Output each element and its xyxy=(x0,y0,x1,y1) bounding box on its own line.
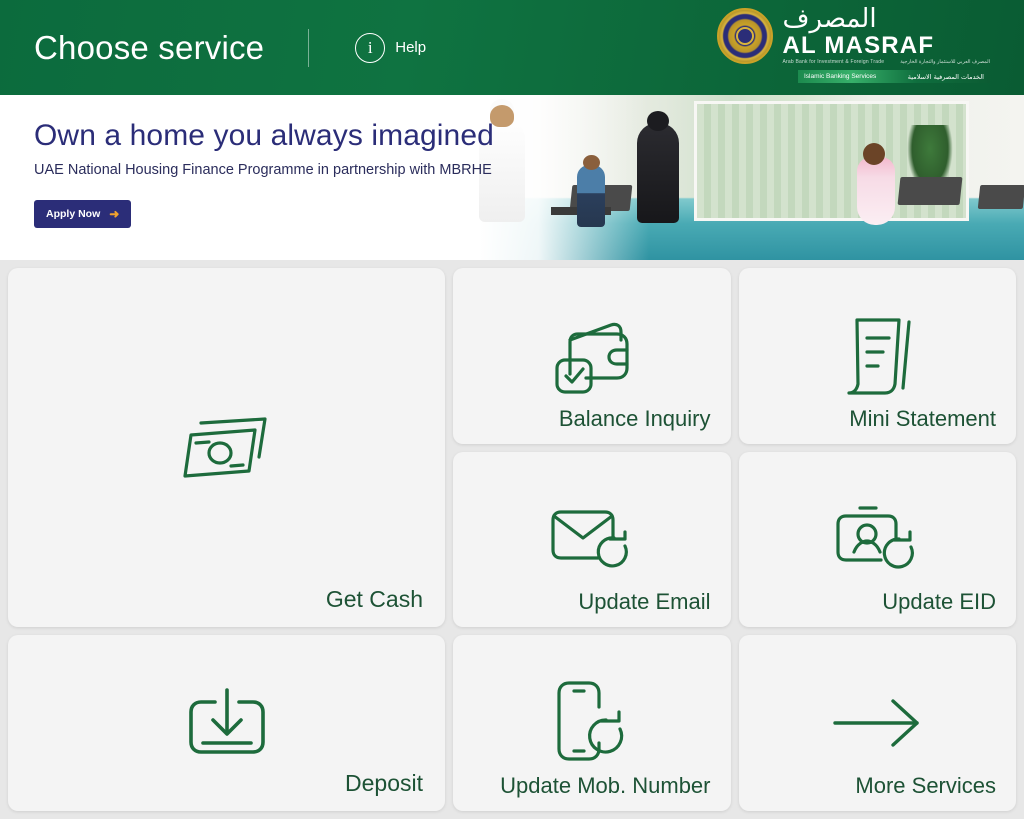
brand-subtitle: Arab Bank for Investment & Foreign Trade… xyxy=(783,59,990,65)
service-tile-update-mobile[interactable]: Update Mob. Number xyxy=(453,635,731,811)
app-header: Choose service i Help المصرف AL MASRAF A… xyxy=(0,0,1024,95)
service-tile-more-services[interactable]: More Services xyxy=(739,635,1017,811)
info-icon[interactable]: i xyxy=(355,33,385,63)
service-label-update-mobile: Update Mob. Number xyxy=(500,773,710,799)
service-label-balance-inquiry: Balance Inquiry xyxy=(559,406,711,432)
islamic-banking-label-ar: الخدمات المصرفية الاسلامية xyxy=(908,73,984,81)
brand-subtitle-en: Arab Bank for Investment & Foreign Trade xyxy=(783,59,885,65)
islamic-banking-band: Islamic Banking Services الخدمات المصرفي… xyxy=(798,70,990,83)
service-tile-mini-statement[interactable]: Mini Statement xyxy=(739,268,1017,444)
apply-now-label: Apply Now xyxy=(46,208,100,220)
service-tile-balance-inquiry[interactable]: Balance Inquiry xyxy=(453,268,731,444)
banner-content: Own a home you always imagined UAE Natio… xyxy=(0,95,1024,228)
brand-logo: المصرف AL MASRAF Arab Bank for Investmen… xyxy=(717,6,990,83)
service-label-deposit: Deposit xyxy=(345,770,423,797)
arrow-right-icon: ➜ xyxy=(109,208,119,220)
logo-text: المصرف AL MASRAF Arab Bank for Investmen… xyxy=(783,6,990,65)
brand-name-arabic: المصرف xyxy=(783,6,877,33)
promo-banner: Own a home you always imagined UAE Natio… xyxy=(0,95,1024,260)
envelope-refresh-icon xyxy=(548,502,636,576)
banner-subtitle: UAE National Housing Finance Programme i… xyxy=(34,162,1024,178)
id-card-refresh-icon xyxy=(833,500,921,578)
banknotes-icon xyxy=(179,411,275,485)
bank-emblem-icon xyxy=(717,8,773,64)
service-tile-deposit[interactable]: Deposit xyxy=(8,635,445,811)
service-label-mini-statement: Mini Statement xyxy=(849,406,996,432)
deposit-download-icon xyxy=(181,684,273,762)
header-divider xyxy=(308,29,309,67)
apply-now-button[interactable]: Apply Now ➜ xyxy=(34,200,131,228)
islamic-banking-label-en: Islamic Banking Services xyxy=(804,73,876,80)
service-label-update-eid: Update EID xyxy=(882,589,996,615)
page-title: Choose service xyxy=(34,29,264,67)
help-label: Help xyxy=(395,39,426,56)
service-label-update-email: Update Email xyxy=(578,589,710,615)
wallet-check-icon xyxy=(548,316,636,396)
brand-name-english: AL MASRAF xyxy=(783,33,935,58)
phone-refresh-icon xyxy=(553,677,631,769)
banner-title: Own a home you always imagined xyxy=(34,119,1024,152)
service-tile-update-email[interactable]: Update Email xyxy=(453,452,731,628)
receipt-icon xyxy=(837,314,917,398)
arrow-right-long-icon xyxy=(831,696,923,750)
service-label-more-services: More Services xyxy=(855,773,996,799)
help-button[interactable]: i Help xyxy=(355,33,426,63)
service-tile-update-eid[interactable]: Update EID xyxy=(739,452,1017,628)
logo-row: المصرف AL MASRAF Arab Bank for Investmen… xyxy=(717,6,990,65)
service-tile-get-cash[interactable]: Get Cash xyxy=(8,268,445,627)
service-grid: Get Cash Balance Inquiry Mini Stat xyxy=(0,260,1024,819)
brand-subtitle-ar: المصرف العربي للاستثمار والتجارة الخارجي… xyxy=(900,59,990,65)
service-label-get-cash: Get Cash xyxy=(326,586,423,613)
